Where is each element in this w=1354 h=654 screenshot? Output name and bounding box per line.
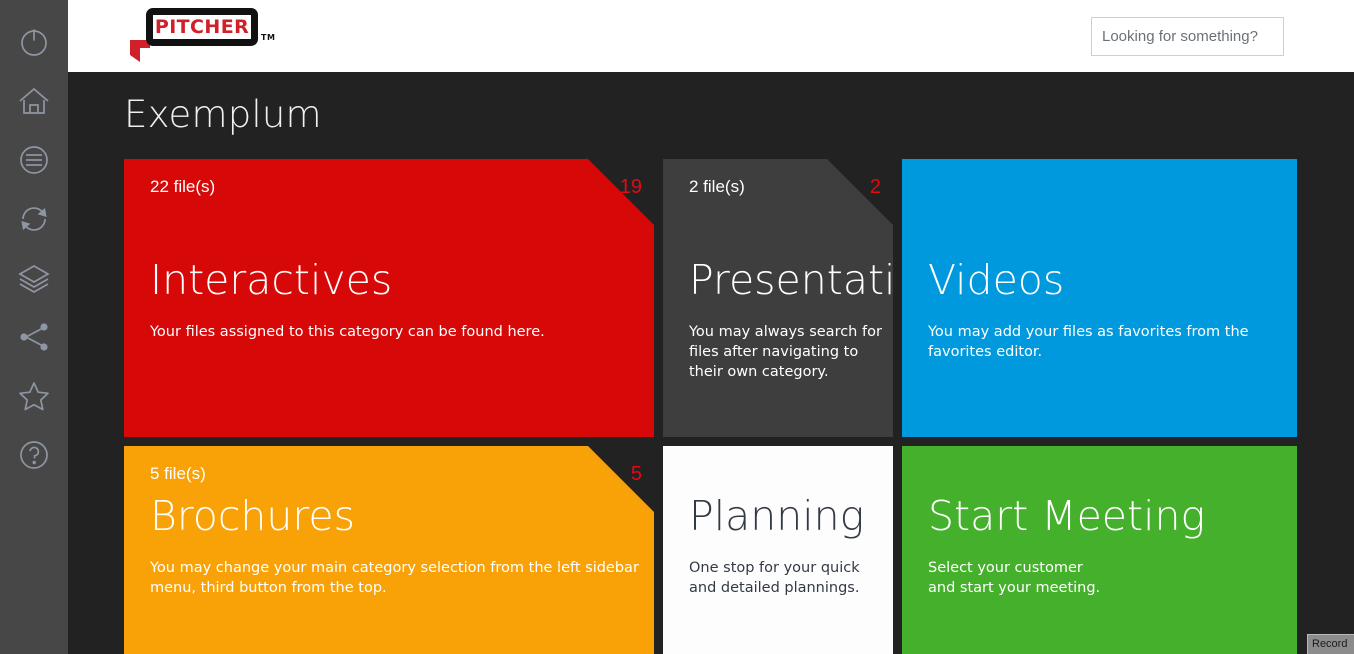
left-sidebar xyxy=(0,0,68,654)
sidebar-item-menu[interactable] xyxy=(0,130,68,189)
main-content: Exemplum 22 file(s) 19 Interactives Your… xyxy=(68,72,1354,654)
tile-videos[interactable]: Videos You may add your files as favorit… xyxy=(902,159,1297,437)
corner-notch xyxy=(588,446,654,512)
sidebar-item-home[interactable] xyxy=(0,71,68,130)
tile-planning[interactable]: Planning One stop for your quick and det… xyxy=(663,446,893,654)
sidebar-item-power[interactable] xyxy=(0,12,68,71)
sidebar-item-sync[interactable] xyxy=(0,189,68,248)
sidebar-item-help[interactable] xyxy=(0,425,68,484)
power-icon xyxy=(17,25,51,59)
record-button[interactable]: Record xyxy=(1307,634,1354,654)
page-title: Exemplum xyxy=(124,96,1308,133)
tile-title: Start Meeting xyxy=(928,496,1205,537)
menu-icon xyxy=(17,143,51,177)
tile-description: You may add your files as favorites from… xyxy=(928,322,1249,362)
tile-title: Interactives xyxy=(150,260,392,301)
logo-wordmark: PITCHER xyxy=(155,18,249,37)
sidebar-item-layers[interactable] xyxy=(0,248,68,307)
search-box[interactable] xyxy=(1091,17,1284,56)
layers-icon xyxy=(17,261,51,295)
tile-title: Planning xyxy=(689,496,864,537)
tile-title: Brochures xyxy=(150,496,355,537)
corner-notch xyxy=(827,159,893,225)
tile-title: Videos xyxy=(928,260,1064,301)
tile-brochures[interactable]: 5 file(s) 5 Brochures You may change you… xyxy=(124,446,654,654)
tile-description: You may always search for files after na… xyxy=(689,322,882,382)
sync-icon xyxy=(17,202,51,236)
logo-box: PITCHER xyxy=(146,8,258,46)
tile-badge: 5 xyxy=(631,464,642,484)
share-icon xyxy=(17,320,51,354)
tile-file-count: 22 file(s) xyxy=(150,178,215,195)
sidebar-item-share[interactable] xyxy=(0,307,68,366)
sidebar-item-favorites[interactable] xyxy=(0,366,68,425)
tile-presentations[interactable]: 2 file(s) 2 Presentations You may always… xyxy=(663,159,893,437)
tile-description: You may change your main category select… xyxy=(150,558,639,598)
tile-badge: 2 xyxy=(870,177,881,197)
app-window: PITCHER TM Exemplum 22 file(s) 19 Intera… xyxy=(0,0,1354,654)
search-input[interactable] xyxy=(1092,18,1283,55)
tile-grid: 22 file(s) 19 Interactives Your files as… xyxy=(124,159,1308,654)
help-icon xyxy=(17,438,51,472)
tile-file-count: 5 file(s) xyxy=(150,465,206,482)
logo-trademark: TM xyxy=(261,33,275,42)
tile-badge: 19 xyxy=(620,177,642,197)
home-icon xyxy=(17,84,51,118)
tile-title: Presentations xyxy=(689,260,893,301)
tile-description: One stop for your quick and detailed pla… xyxy=(689,558,860,598)
pitcher-logo[interactable]: PITCHER TM xyxy=(128,8,260,60)
tile-description: Select your customer and start your meet… xyxy=(928,558,1100,598)
tile-start-meeting[interactable]: Start Meeting Select your customer and s… xyxy=(902,446,1297,654)
tile-file-count: 2 file(s) xyxy=(689,178,745,195)
tile-description: Your files assigned to this category can… xyxy=(150,322,545,342)
tile-interactives[interactable]: 22 file(s) 19 Interactives Your files as… xyxy=(124,159,654,437)
star-icon xyxy=(17,379,51,413)
top-header: PITCHER TM xyxy=(68,0,1354,72)
